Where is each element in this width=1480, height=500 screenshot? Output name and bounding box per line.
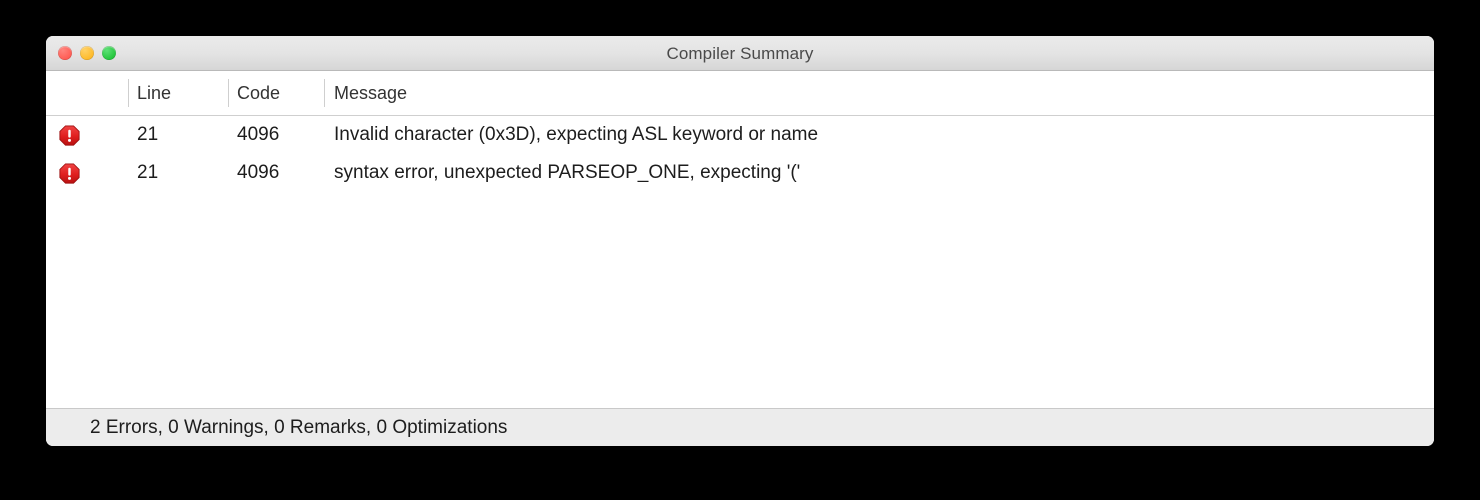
column-header-line[interactable]: Line — [137, 71, 171, 116]
column-separator[interactable] — [228, 79, 229, 107]
cell-message: syntax error, unexpected PARSEOP_ONE, ex… — [334, 154, 800, 192]
cell-line: 21 — [137, 116, 158, 154]
window-title: Compiler Summary — [46, 36, 1434, 71]
cell-code: 4096 — [237, 116, 279, 154]
table-header: Line Code Message — [46, 71, 1434, 116]
status-bar: 2 Errors, 0 Warnings, 0 Remarks, 0 Optim… — [46, 408, 1434, 446]
table-row[interactable]: 21 4096 Invalid character (0x3D), expect… — [46, 116, 1434, 154]
close-traffic-light-icon[interactable] — [58, 46, 72, 60]
window-controls — [58, 46, 116, 60]
diagnostics-list: 21 4096 Invalid character (0x3D), expect… — [46, 116, 1434, 408]
cell-message: Invalid character (0x3D), expecting ASL … — [334, 116, 818, 154]
cell-code: 4096 — [237, 154, 279, 192]
status-summary-text: 2 Errors, 0 Warnings, 0 Remarks, 0 Optim… — [90, 409, 507, 446]
minimize-traffic-light-icon[interactable] — [80, 46, 94, 60]
column-separator[interactable] — [324, 79, 325, 107]
compiler-summary-window: Compiler Summary Line Code Message — [46, 36, 1434, 446]
error-octagon-icon — [51, 154, 87, 192]
column-separator[interactable] — [128, 79, 129, 107]
table-row[interactable]: 21 4096 syntax error, unexpected PARSEOP… — [46, 154, 1434, 192]
column-header-code[interactable]: Code — [237, 71, 280, 116]
error-octagon-icon — [51, 116, 87, 154]
cell-line: 21 — [137, 154, 158, 192]
column-header-message[interactable]: Message — [334, 71, 407, 116]
maximize-traffic-light-icon[interactable] — [102, 46, 116, 60]
window-titlebar[interactable]: Compiler Summary — [46, 36, 1434, 71]
